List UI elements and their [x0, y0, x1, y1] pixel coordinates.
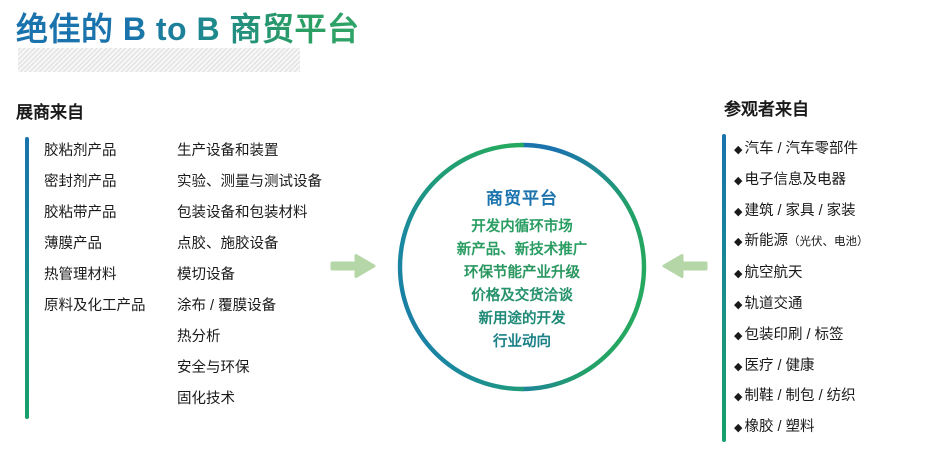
list-item-note: （光伏、电池） [788, 227, 869, 258]
list-item-label: 医疗 / 健康 [744, 351, 814, 382]
platform-line: 价格及交货洽谈 [471, 285, 573, 308]
diamond-bullet-icon: ◆ [734, 176, 742, 187]
list-item: 胶粘带产品 [44, 198, 146, 229]
list-item-label: 包装印刷 / 标签 [744, 320, 843, 351]
diamond-bullet-icon: ◆ [734, 269, 742, 280]
platform-line: 环保节能产业升级 [464, 262, 580, 285]
list-item: ◆ 橡胶 / 塑料 [734, 412, 868, 443]
list-item-label: 电子信息及电器 [744, 165, 846, 196]
exhibitor-category-list-secondary: 生产设备和装置 实验、测量与测试设备 包装设备和包装材料 点胶、施胶设备 模切设… [177, 136, 322, 415]
platform-line: 新产品、新技术推广 [457, 239, 588, 262]
list-item: ◆ 医疗 / 健康 [734, 351, 868, 382]
list-item: 包装设备和包装材料 [177, 198, 322, 229]
exhibitor-category-list-primary: 胶粘剂产品 密封剂产品 胶粘带产品 薄膜产品 热管理材料 原料及化工产品 [44, 136, 146, 322]
exhibitors-heading: 展商来自 [16, 98, 84, 123]
diamond-bullet-icon: ◆ [734, 392, 742, 403]
list-item: ◆ 制鞋 / 制包 / 纺织 [734, 381, 868, 412]
list-item: 薄膜产品 [44, 229, 146, 260]
diamond-bullet-icon: ◆ [734, 423, 742, 434]
list-item: ◆ 建筑 / 家具 / 家装 [734, 196, 868, 227]
diamond-bullet-icon: ◆ [734, 362, 742, 373]
platform-line: 开发内循环市场 [471, 216, 573, 239]
platform-circle: 商贸平台 开发内循环市场 新产品、新技术推广 环保节能产业升级 价格及交货洽谈 … [396, 141, 648, 393]
list-item: ◆ 汽车 / 汽车零部件 [734, 134, 868, 165]
list-item: 固化技术 [177, 384, 322, 415]
list-item: 热分析 [177, 322, 322, 353]
arrow-right-icon [330, 252, 376, 280]
slide-root: 绝佳的 B to B 商贸平台 展商来自 胶粘剂产品 密封剂产品 胶粘带产品 薄… [0, 0, 944, 449]
diamond-bullet-icon: ◆ [734, 237, 742, 248]
title-hatch-bar [18, 48, 300, 72]
diamond-bullet-icon: ◆ [734, 145, 742, 156]
list-item: 安全与环保 [177, 353, 322, 384]
list-item: ◆ 包装印刷 / 标签 [734, 320, 868, 351]
list-item: 原料及化工产品 [44, 291, 146, 322]
list-item: 热管理材料 [44, 260, 146, 291]
platform-circle-text: 商贸平台 开发内循环市场 新产品、新技术推广 环保节能产业升级 价格及交货洽谈 … [396, 141, 648, 393]
list-item: ◆ 电子信息及电器 [734, 165, 868, 196]
arrow-left-icon [662, 252, 708, 280]
list-item: 涂布 / 覆膜设备 [177, 291, 322, 322]
list-item: 生产设备和装置 [177, 136, 322, 167]
list-item: 模切设备 [177, 260, 322, 291]
list-item-label: 汽车 / 汽车零部件 [744, 134, 858, 165]
list-item-label: 新能源 [744, 226, 788, 257]
list-item-label: 制鞋 / 制包 / 纺织 [744, 381, 855, 412]
list-item: 点胶、施胶设备 [177, 229, 322, 260]
visitor-industry-list: ◆ 汽车 / 汽车零部件 ◆ 电子信息及电器 ◆ 建筑 / 家具 / 家装 ◆ … [734, 134, 868, 443]
list-item: ◆ 轨道交通 [734, 289, 868, 320]
visitors-gradient-rule [722, 134, 726, 442]
visitors-heading: 参观者来自 [724, 95, 809, 120]
list-item: ◆ 新能源 （光伏、电池） [734, 226, 868, 258]
page-title: 绝佳的 B to B 商贸平台 [16, 4, 360, 50]
list-item: 胶粘剂产品 [44, 136, 146, 167]
list-item: ◆ 航空航天 [734, 258, 868, 289]
list-item-label: 航空航天 [744, 258, 802, 289]
diamond-bullet-icon: ◆ [734, 331, 742, 342]
list-item: 实验、测量与测试设备 [177, 167, 322, 198]
diamond-bullet-icon: ◆ [734, 300, 742, 311]
platform-line: 行业动向 [493, 331, 551, 354]
list-item-label: 橡胶 / 塑料 [744, 412, 814, 443]
exhibitors-gradient-rule [25, 137, 29, 419]
list-item-label: 轨道交通 [744, 289, 802, 320]
platform-title: 商贸平台 [486, 184, 558, 209]
platform-line: 新用途的开发 [479, 308, 566, 331]
list-item: 密封剂产品 [44, 167, 146, 198]
list-item-label: 建筑 / 家具 / 家装 [744, 196, 855, 227]
diamond-bullet-icon: ◆ [734, 207, 742, 218]
